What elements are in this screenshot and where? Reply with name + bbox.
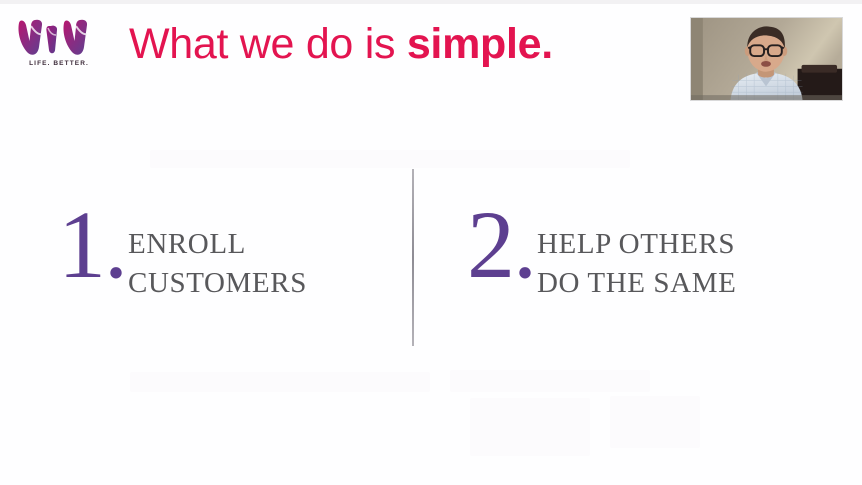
point-1-line-2: CUSTOMERS [128,264,307,303]
viv-logo: LIFE. BETTER. [16,18,102,74]
presenter-webcam-feed[interactable] [690,17,843,101]
point-1-numeral: 1. [58,199,126,291]
top-edge-strip [0,0,862,4]
background-artifact [470,398,590,456]
numbered-point-2: 2. HELP OTHERS DO THE SAME [467,203,736,303]
point-2-numeral: 2. [467,199,535,291]
point-2-line-2: DO THE SAME [537,264,736,303]
webcam-video-frame [691,18,842,100]
viv-wordmark-icon [16,18,94,58]
point-2-text: HELP OTHERS DO THE SAME [537,225,736,303]
background-artifact [150,150,630,168]
slide-title-emphasis: simple [407,20,541,68]
presentation-slide: LIFE. BETTER. What we do is simple. [0,0,862,485]
slide-title: What we do is simple. [129,18,553,70]
numbered-point-1: 1. ENROLL CUSTOMERS [58,203,307,303]
vertical-divider [412,169,414,346]
point-1-line-1: ENROLL [128,225,307,264]
background-artifact [450,370,650,392]
background-artifact [610,396,700,448]
background-artifact [130,372,430,392]
point-1-text: ENROLL CUSTOMERS [128,225,307,303]
slide-title-suffix: . [541,20,553,68]
slide-title-prefix: What we do is [129,20,407,68]
point-2-line-1: HELP OTHERS [537,225,736,264]
logo-tagline: LIFE. BETTER. [20,60,98,67]
